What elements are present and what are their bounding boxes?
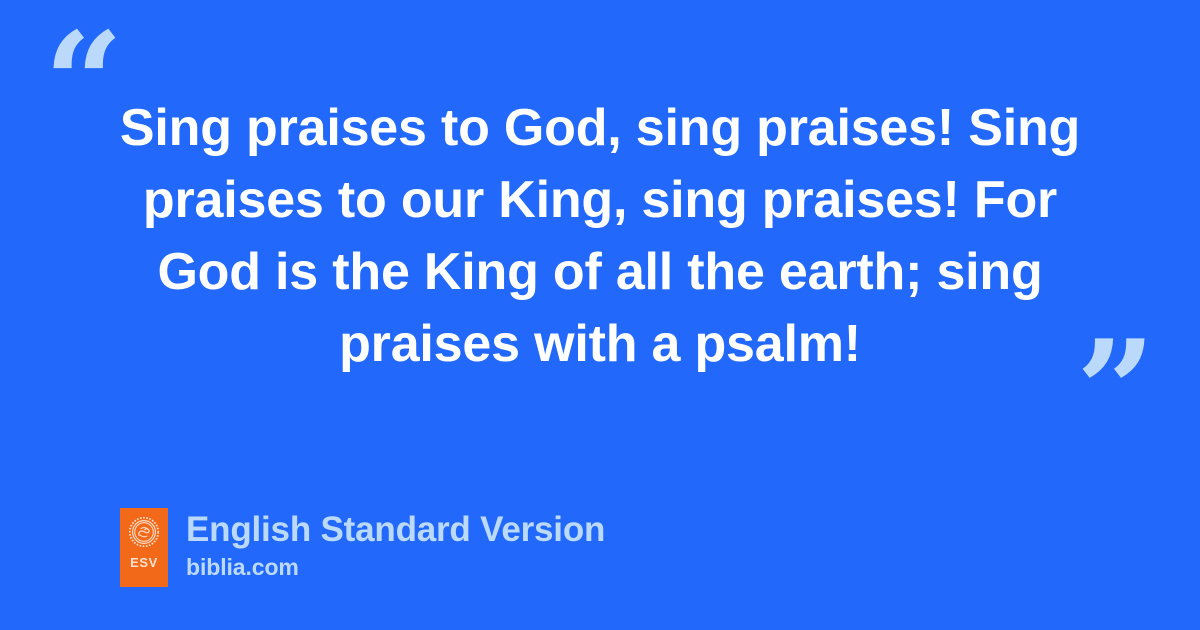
translation-title: English Standard Version <box>186 509 605 551</box>
verse-share-card: “ Sing praises to God, sing praises! Sin… <box>0 0 1200 630</box>
source-site-label: biblia.com <box>186 553 605 581</box>
attribution-block: ESV English Standard Version biblia.com <box>120 508 605 587</box>
verse-container: Sing praises to God, sing praises! Sing … <box>100 92 1100 380</box>
esv-logo-badge: ESV <box>120 508 168 587</box>
verse-text: Sing praises to God, sing praises! Sing … <box>100 92 1100 380</box>
closing-quote-icon: ” <box>1076 322 1153 460</box>
esv-abbreviation-label: ESV <box>130 556 158 569</box>
esv-seal-icon <box>129 517 159 547</box>
attribution-text: English Standard Version biblia.com <box>186 508 605 581</box>
